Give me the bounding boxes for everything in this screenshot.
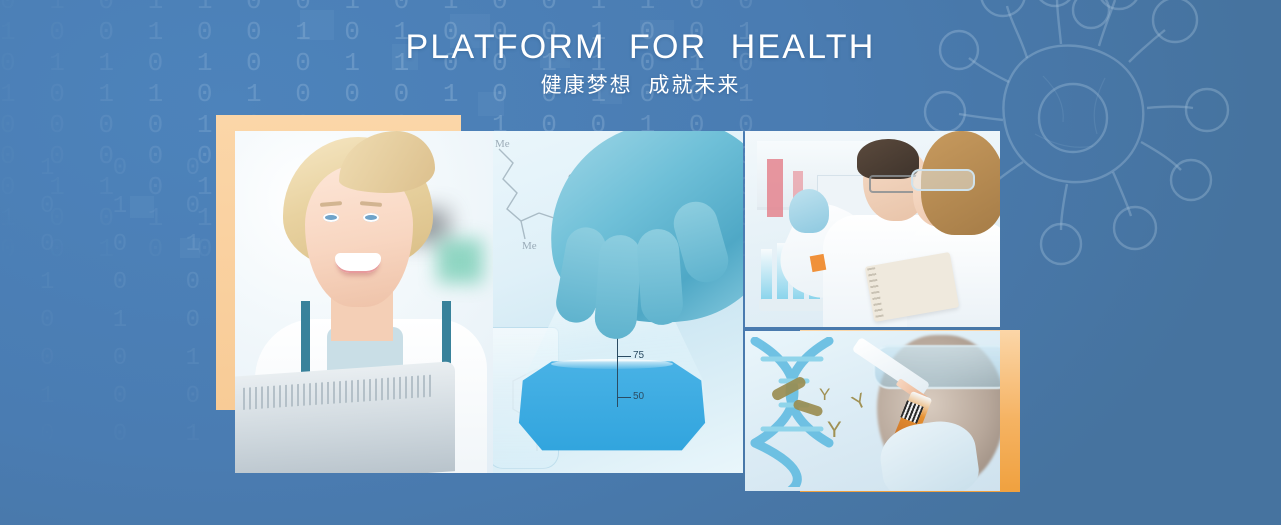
doctor-eye-left [323, 213, 339, 222]
photo-dna-researcher: Y Y Y [745, 331, 1000, 491]
svg-text:Me: Me [522, 240, 537, 252]
photo-doctor [235, 131, 493, 473]
doctor-eye-right [363, 213, 379, 222]
antibody-icon-1: Y [819, 385, 830, 405]
computer-monitor [235, 361, 455, 473]
photo-flask: Me Me O OH 100 75 50 [493, 131, 743, 473]
scientist-male-hair [857, 139, 919, 179]
glove-finger-3 [636, 228, 685, 327]
photo-lab-scientists [745, 131, 1000, 327]
scientist-female-goggles [911, 169, 975, 191]
monitor-vents [243, 375, 431, 410]
doctor-smile [335, 253, 381, 273]
health-platform-banner: 0 1 0 1 1 0 0 1 0 1 0 0 1 1 0 0 1 0 1 0 … [0, 0, 1281, 525]
scientist-male-glove [789, 189, 829, 233]
svg-text:Me: Me [495, 138, 510, 150]
antibody-icon-2: Y [827, 417, 842, 443]
glove-finger-2 [593, 234, 642, 341]
doctor-photo-bokeh-green [437, 239, 483, 283]
notepad-orange-tab [810, 254, 827, 272]
flask-mark-75: 75 [633, 350, 650, 361]
lab-reagent-bottle-1 [767, 159, 783, 217]
flask-mark-50: 50 [633, 391, 650, 402]
flask-liquid-surface [551, 359, 673, 369]
